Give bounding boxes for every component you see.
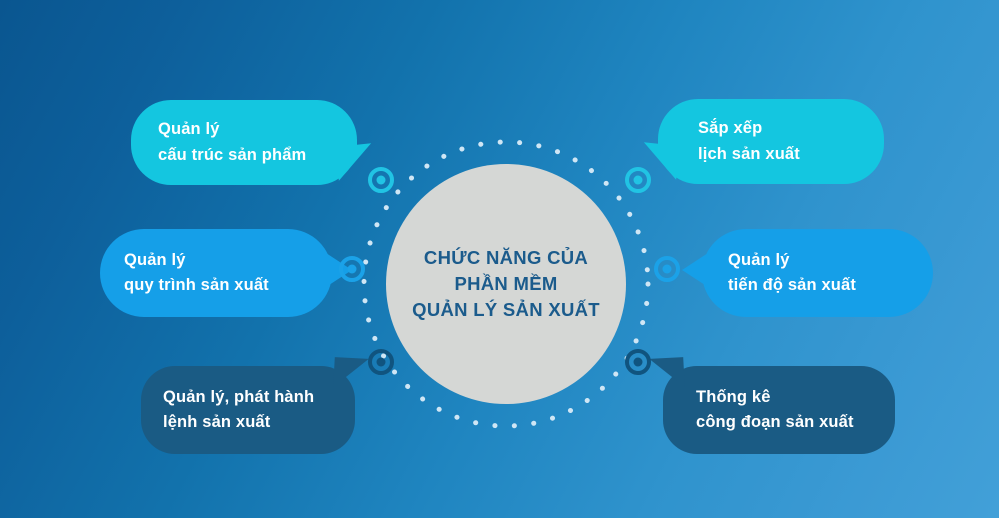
- bubble-tail-icon: [682, 253, 708, 287]
- bubble-body: Quản lý quy trình sản xuất: [100, 229, 332, 317]
- bubble-tail-icon: [333, 357, 369, 389]
- connector-node-middle-right[interactable]: [654, 256, 680, 282]
- branch-bubble-bottom-right[interactable]: Thống kê công đoạn sản xuất: [663, 366, 895, 454]
- bubble-body: Quản lý tiến độ sản xuất: [702, 229, 933, 317]
- branch-label-middle-right: Quản lý tiến độ sản xuất: [728, 248, 856, 298]
- connector-node-top-right[interactable]: [625, 167, 651, 193]
- bubble-body: Thống kê công đoạn sản xuất: [663, 366, 895, 454]
- branch-label-bottom-right: Thống kê công đoạn sản xuất: [696, 385, 854, 435]
- branch-label-top-right: Sắp xếp lịch sản xuất: [698, 116, 800, 166]
- bubble-body: Quản lý cấu trúc sản phẩm: [131, 100, 357, 185]
- bubble-tail-icon: [649, 357, 685, 389]
- branch-bubble-middle-left[interactable]: Quản lý quy trình sản xuất: [100, 229, 332, 317]
- bubble-body: Sắp xếp lịch sản xuất: [658, 99, 884, 184]
- center-title: CHỨC NĂNG CỦA PHẦN MỀM QUẢN LÝ SẢN XUẤT: [412, 245, 600, 324]
- infographic-canvas: CHỨC NĂNG CỦA PHẦN MỀM QUẢN LÝ SẢN XUẤT …: [0, 0, 999, 518]
- branch-bubble-middle-right[interactable]: Quản lý tiến độ sản xuất: [702, 229, 933, 317]
- connector-node-bottom-left[interactable]: [368, 349, 394, 375]
- branch-bubble-top-left[interactable]: Quản lý cấu trúc sản phẩm: [131, 100, 357, 185]
- connector-node-middle-left[interactable]: [339, 256, 365, 282]
- branch-label-bottom-left: Quản lý, phát hành lệnh sản xuất: [163, 385, 314, 435]
- branch-label-top-left: Quản lý cấu trúc sản phẩm: [158, 117, 306, 167]
- center-circle: CHỨC NĂNG CỦA PHẦN MỀM QUẢN LÝ SẢN XUẤT: [386, 164, 626, 404]
- bubble-body: Quản lý, phát hành lệnh sản xuất: [141, 366, 355, 454]
- connector-node-bottom-right[interactable]: [625, 349, 651, 375]
- branch-label-middle-left: Quản lý quy trình sản xuất: [124, 248, 269, 298]
- branch-bubble-top-right[interactable]: Sắp xếp lịch sản xuất: [658, 99, 884, 184]
- branch-bubble-bottom-left[interactable]: Quản lý, phát hành lệnh sản xuất: [141, 366, 355, 454]
- connector-node-top-left[interactable]: [368, 167, 394, 193]
